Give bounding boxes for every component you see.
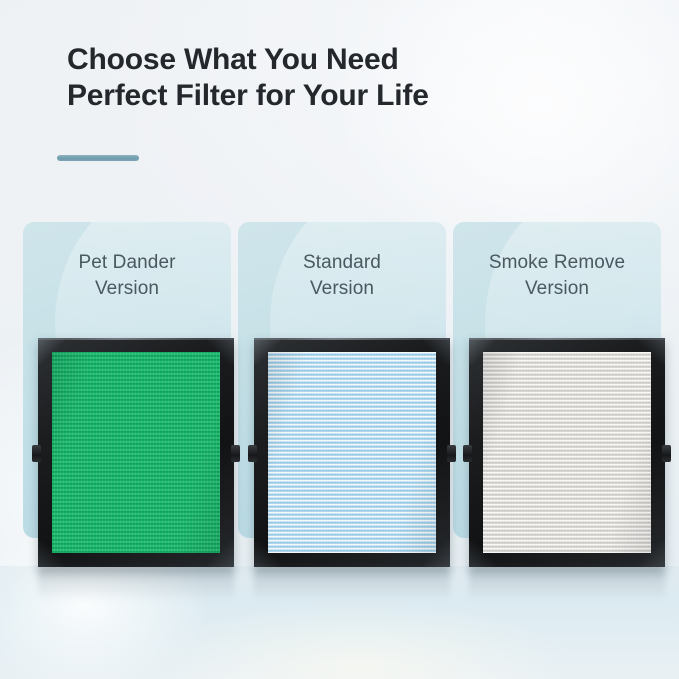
filter-media-gray xyxy=(483,352,651,553)
version-card-label: Pet Dander Version xyxy=(23,250,231,302)
filter-handle-tab-right xyxy=(447,445,456,462)
product-comparison-banner: Choose What You Need Perfect Filter for … xyxy=(0,0,679,679)
version-card-label-line-2: Version xyxy=(238,276,446,302)
version-card-label: Smoke Remove Version xyxy=(453,250,661,302)
filter-handle-tab-left xyxy=(463,445,472,462)
filter-handle-tab-left xyxy=(32,445,41,462)
smoke-remove-filter-image[interactable] xyxy=(469,338,665,567)
standard-filter-image[interactable] xyxy=(254,338,450,567)
filter-media-blue xyxy=(268,352,436,553)
filter-media-shading xyxy=(52,352,220,553)
version-card-label-line-1: Pet Dander xyxy=(23,250,231,276)
filter-media-green xyxy=(52,352,220,553)
filter-handle-tab-right xyxy=(231,445,240,462)
version-card-label-line-1: Standard xyxy=(238,250,446,276)
filter-handle-tab-left xyxy=(248,445,257,462)
filter-media-shading xyxy=(483,352,651,553)
filter-handle-tab-right xyxy=(662,445,671,462)
version-card-label: Standard Version xyxy=(238,250,446,302)
pet-dander-filter-image[interactable] xyxy=(38,338,234,567)
version-card-label-line-1: Smoke Remove xyxy=(453,250,661,276)
filter-media-shading xyxy=(268,352,436,553)
version-card-label-line-2: Version xyxy=(453,276,661,302)
version-card-label-line-2: Version xyxy=(23,276,231,302)
